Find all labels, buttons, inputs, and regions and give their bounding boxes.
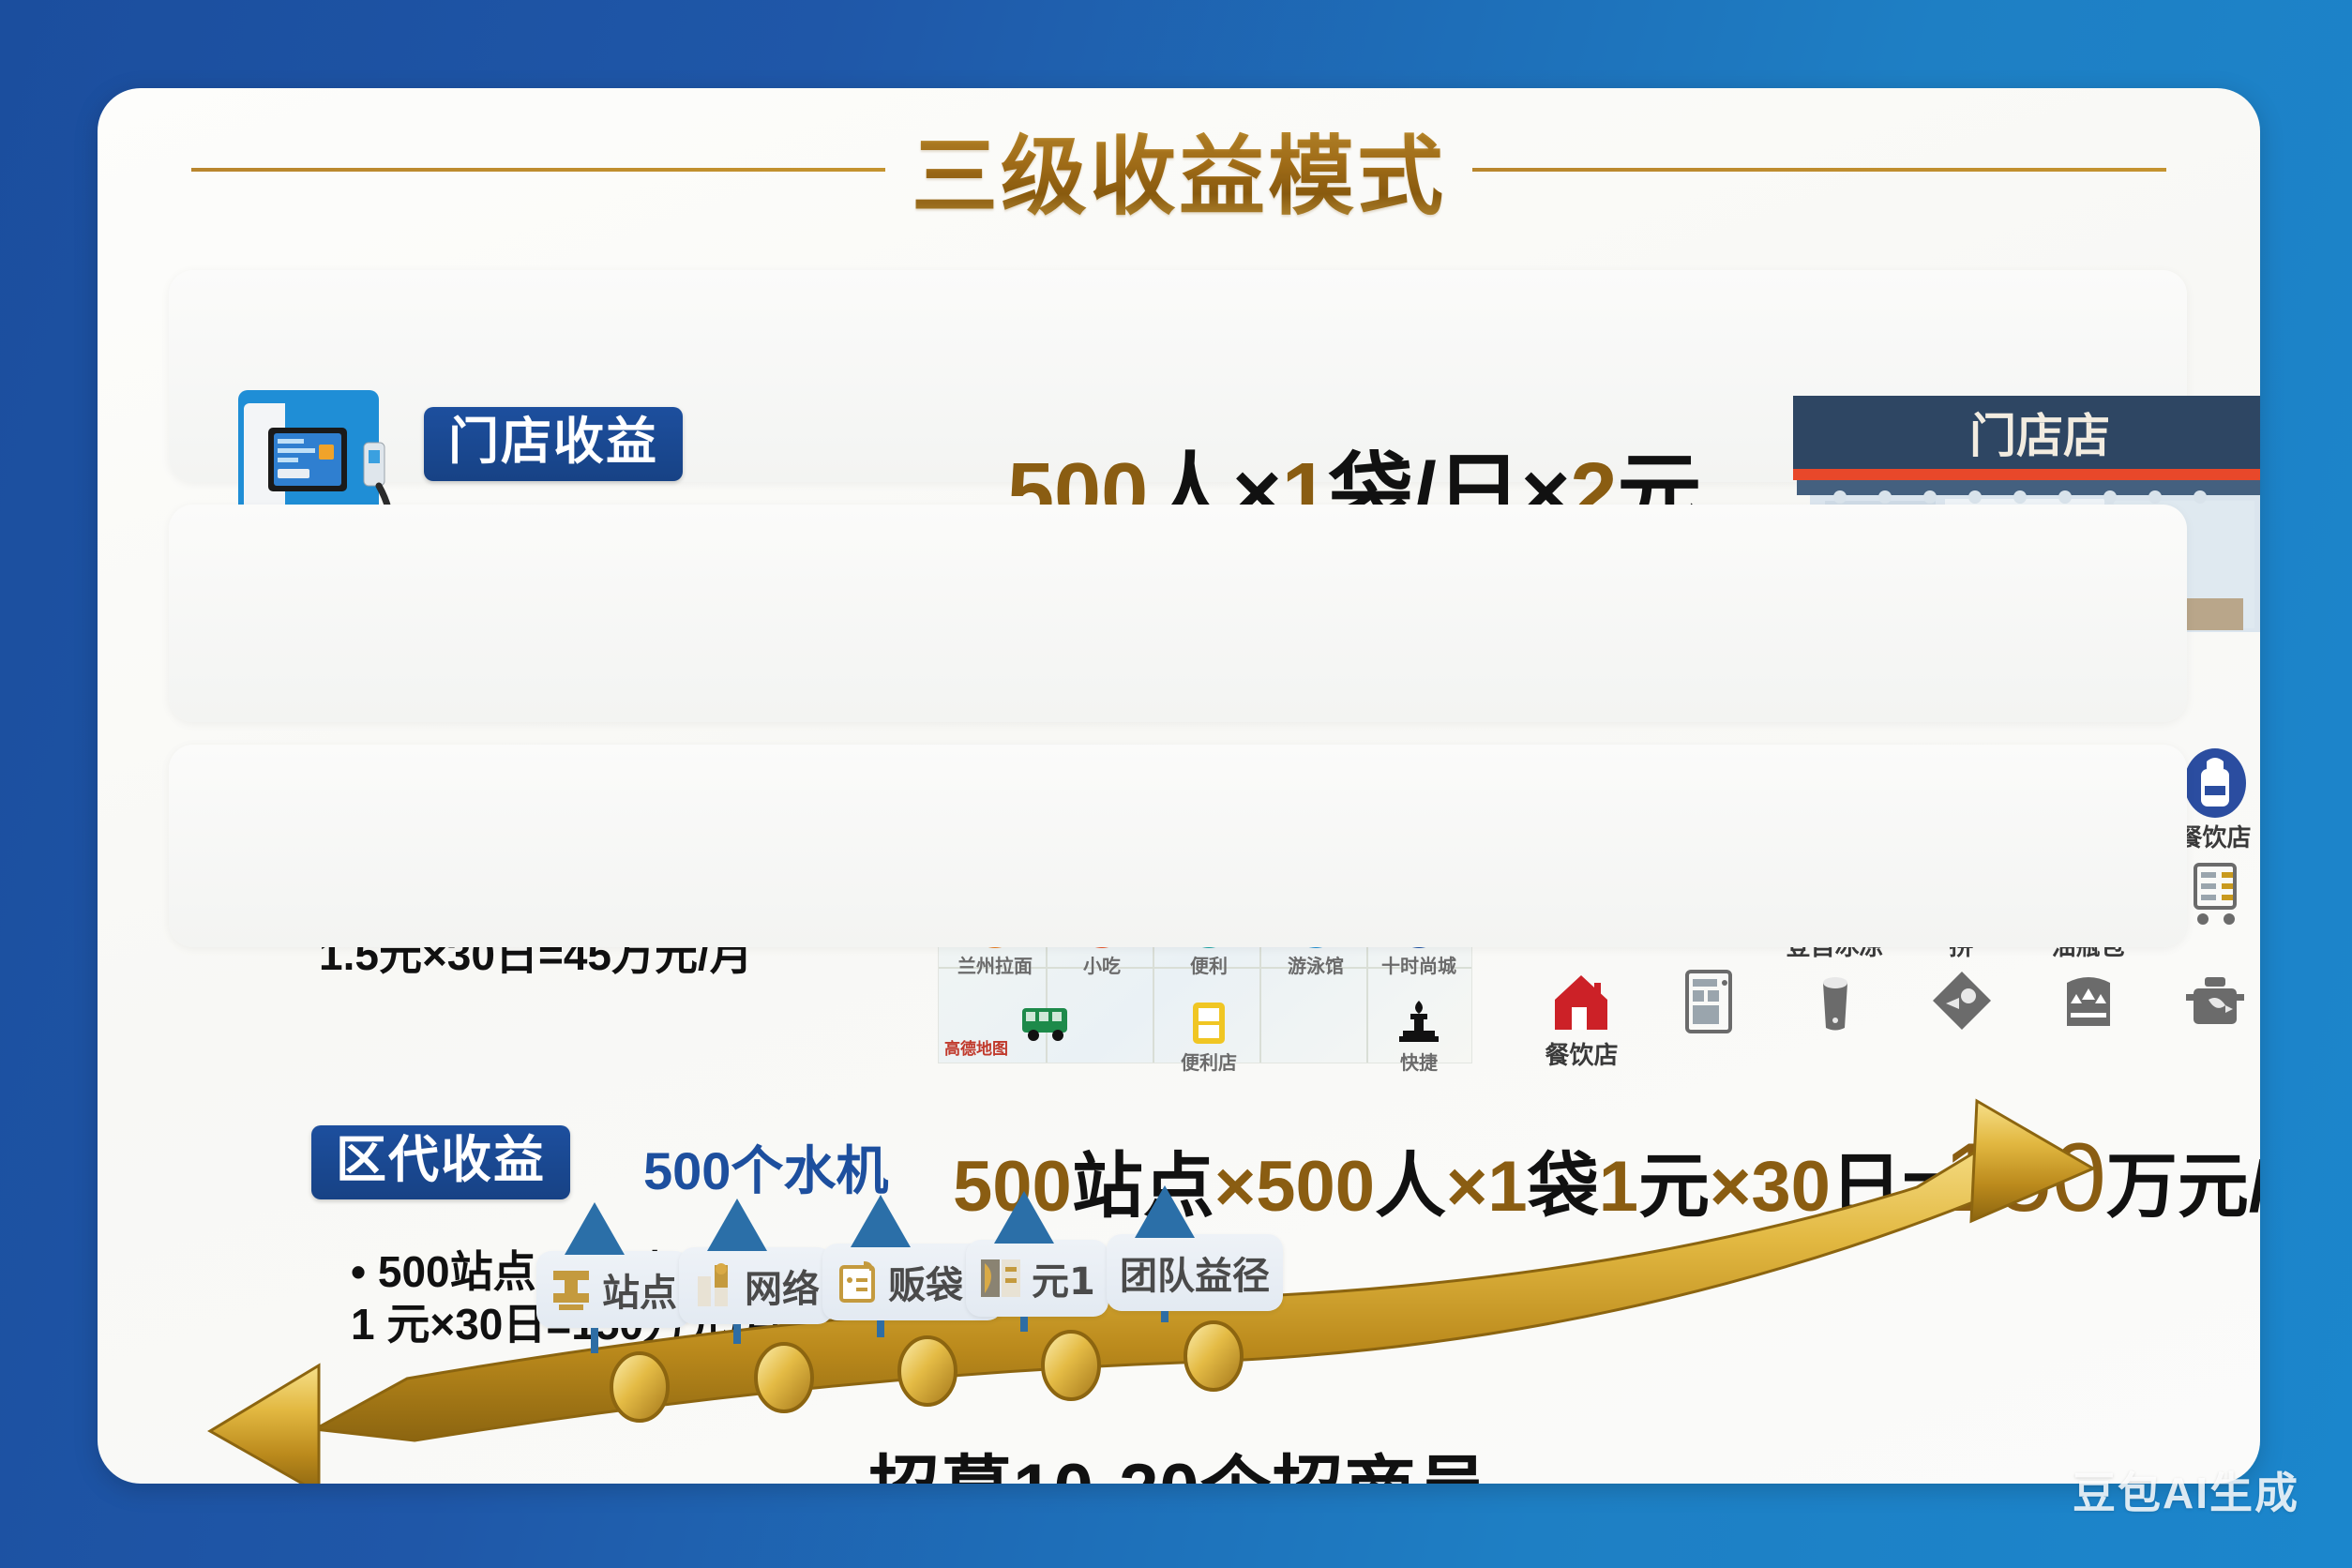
locker-icon (1180, 995, 1238, 1046)
step-stem (877, 1320, 884, 1337)
map-attribution: 高德地图 (944, 1035, 1008, 1059)
step-stem (591, 1328, 598, 1353)
map-cell (1004, 995, 1087, 1048)
bag-icon (836, 1258, 879, 1306)
title-bar: 三级收益模式 (98, 107, 2260, 232)
step-label: 团队益径 (1120, 1245, 1270, 1300)
step-box-2[interactable]: 网络 (679, 1247, 833, 1324)
step-arrow-up-icon (994, 1191, 1054, 1244)
section-panel-agent (169, 505, 2187, 722)
map-cell-label: 十时尚城 (1381, 951, 1456, 978)
step-label: 网络 (745, 1259, 820, 1313)
map-cell-label: 兰州拉面 (957, 951, 1033, 978)
title-rule-left (191, 168, 885, 172)
step-box-1[interactable]: 站点 (536, 1251, 690, 1328)
map-cell-label: 游泳馆 (1288, 951, 1344, 978)
network-icon (692, 1261, 735, 1310)
step-stem (1020, 1317, 1028, 1332)
tower-icon (1390, 995, 1448, 1046)
main-card: 三级收益模式 门店收益 • 押金28000元 （卖3万袋全退） 500人×1袋/… (98, 88, 2260, 1484)
step-label: 元1 (1032, 1251, 1095, 1305)
step-arrow-up-icon (707, 1199, 767, 1251)
recruit-text: 招募10-20个招商员 (98, 1431, 2260, 1484)
watermark: 豆包AI生成 (2073, 1459, 2299, 1521)
blank-icon (1287, 995, 1345, 1046)
page-title: 三级收益模式 (912, 107, 1446, 232)
step-arrow-up-icon (851, 1195, 911, 1247)
tag-icon (1927, 966, 1997, 1035)
step-stem (1161, 1311, 1168, 1322)
map-cell (1274, 995, 1357, 1048)
house-icon (1547, 966, 1617, 1035)
business-icon-cell (1650, 966, 1767, 1071)
badge-store-revenue: 门店收益 (424, 407, 683, 481)
business-icon-cell: 餐饮店 (1523, 966, 1640, 1071)
business-icon-label: 餐饮店 (2178, 819, 2251, 853)
business-icon-cell (2156, 966, 2260, 1071)
machine-icon (2054, 966, 2123, 1035)
map-cell-label: 小吃 (1083, 951, 1121, 978)
step-arrow-up-icon (1135, 1185, 1195, 1238)
step-label: 站点 (602, 1262, 677, 1317)
title-rule-right (1472, 168, 2166, 172)
business-icon-cell (1903, 966, 2020, 1071)
bin-icon (1801, 966, 1870, 1035)
step-arrow-up-icon (565, 1202, 625, 1255)
step-stem (733, 1324, 741, 1344)
business-icon-cell (2029, 966, 2147, 1071)
map-cell-label: 便利 (1190, 951, 1228, 978)
section-panel-district (169, 745, 2187, 947)
bus-icon (1017, 995, 1075, 1046)
business-icon-cell (1776, 966, 1893, 1071)
coin-icon (979, 1254, 1022, 1303)
store-sign-text: 门店店 (1969, 409, 2110, 463)
pot-icon (2180, 966, 2250, 1035)
site-icon (550, 1265, 593, 1314)
step-box-4[interactable]: 元1 (966, 1240, 1108, 1317)
step-box-5[interactable]: 团队益径 (1107, 1234, 1283, 1311)
backpack-icon (2180, 748, 2250, 818)
vending-icon (1674, 966, 1743, 1035)
cart-icon (2180, 857, 2250, 927)
